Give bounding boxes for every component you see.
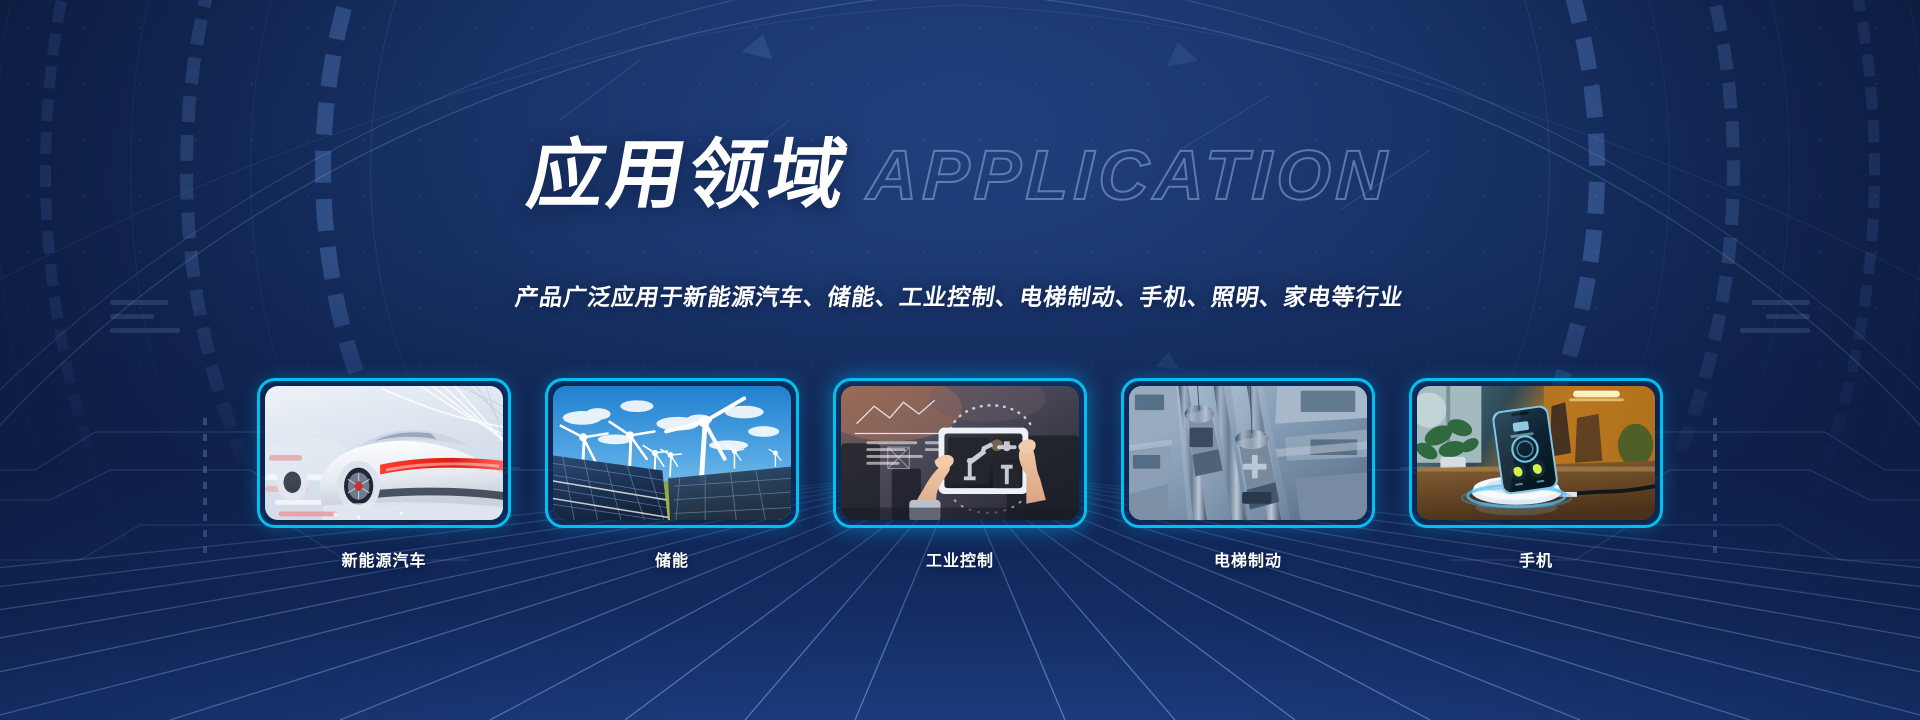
card-frame[interactable]: [1121, 378, 1375, 528]
banner-heading: 应用领域 APPLICATION: [0, 138, 1920, 214]
card-frame[interactable]: [545, 378, 799, 528]
page-title-en: APPLICATION: [866, 140, 1393, 210]
card-label: 新能源汽车: [257, 547, 511, 571]
card-label: 手机: [1409, 547, 1663, 571]
application-card[interactable]: 手机: [1409, 378, 1663, 571]
banner-subtitle: 产品广泛应用于新能源汽车、储能、工业控制、电梯制动、手机、照明、家电等行业: [0, 278, 1920, 312]
application-card[interactable]: 储能: [545, 378, 799, 571]
application-card[interactable]: 电梯制动: [1121, 378, 1375, 571]
card-frame[interactable]: [833, 378, 1087, 528]
application-card[interactable]: 新能源汽车: [257, 378, 511, 571]
card-label: 电梯制动: [1121, 547, 1375, 571]
phone-wireless-charger-image: [1417, 386, 1655, 520]
application-card-list: 新能源汽车: [0, 378, 1920, 571]
card-label: 工业控制: [833, 547, 1087, 571]
sports-car-image: [265, 386, 503, 520]
application-banner: 应用领域 APPLICATION 产品广泛应用于新能源汽车、储能、工业控制、电梯…: [0, 0, 1920, 720]
application-card[interactable]: 工业控制: [833, 378, 1087, 571]
elevator-shaft-image: [1129, 386, 1367, 520]
industrial-tablet-robot-image: [841, 386, 1079, 520]
solar-wind-farm-image: [553, 386, 791, 520]
card-frame[interactable]: [257, 378, 511, 528]
card-frame[interactable]: [1409, 378, 1663, 528]
page-title-cn: 应用领域: [522, 138, 855, 214]
card-label: 储能: [545, 547, 799, 571]
